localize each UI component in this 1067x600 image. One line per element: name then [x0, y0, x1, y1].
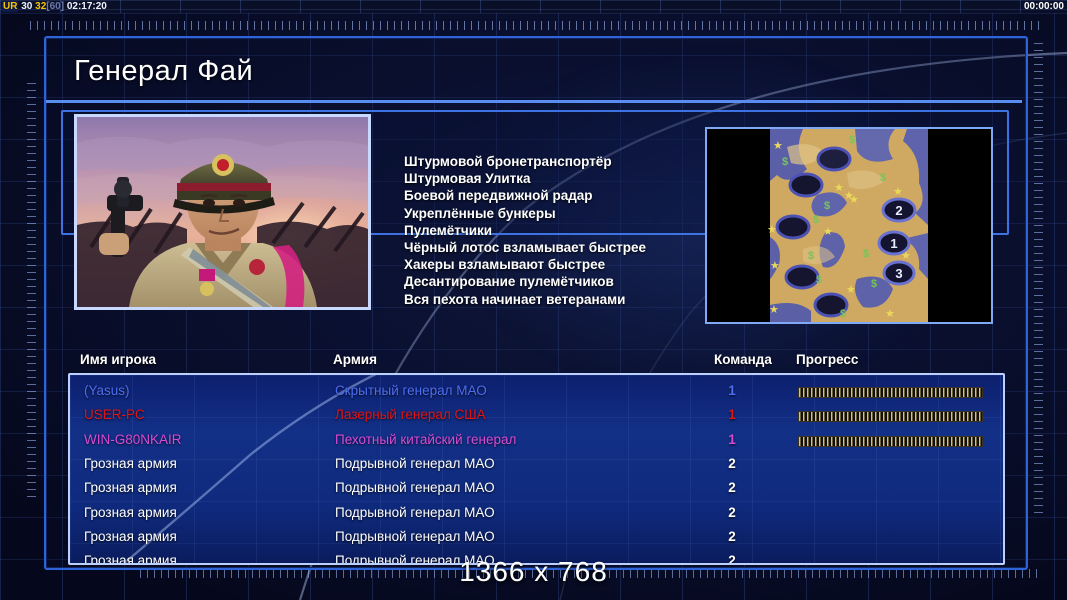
player-army: Пехотный китайский генерал: [335, 432, 516, 447]
svg-text:★: ★: [846, 284, 856, 296]
svg-text:★: ★: [834, 182, 844, 194]
player-team: 1: [724, 432, 740, 447]
svg-text:★: ★: [901, 250, 911, 262]
player-team: 2: [724, 480, 740, 495]
ability-item: Штурмовая Улитка: [404, 170, 694, 187]
ruler-right: [1034, 43, 1043, 513]
ability-item: Штурмовой бронетранспортёр: [404, 153, 694, 170]
ability-item: Вся пехота начинает ветеранами: [404, 291, 694, 308]
progress-bar: [798, 436, 983, 447]
resolution-overlay: 1366 x 768: [0, 556, 1067, 588]
column-header-army: Армия: [333, 352, 377, 367]
column-header-team: Команда: [714, 352, 772, 367]
player-army: Подрывной генерал МАО: [335, 529, 495, 544]
svg-text:★: ★: [885, 308, 895, 320]
player-name: Грозная армия: [84, 529, 177, 544]
os-bar-grid: [0, 0, 1067, 13]
ability-item: Укреплённые бункеры: [404, 205, 694, 222]
page-title: Генерал Фай: [74, 55, 253, 88]
svg-text:$: $: [824, 200, 830, 212]
svg-text:$: $: [782, 156, 788, 168]
progress-bar: [798, 387, 983, 398]
player-army: Лазерный генерал США: [335, 407, 486, 422]
session-timer: 02:17:20: [67, 1, 107, 12]
svg-text:★: ★: [770, 260, 780, 272]
player-army: Подрывной генерал МАО: [335, 505, 495, 520]
table-row[interactable]: Грозная армияПодрывной генерал МАО2: [70, 505, 1005, 529]
svg-text:$: $: [813, 214, 819, 226]
table-row[interactable]: USER-PCЛазерный генерал США1: [70, 407, 1005, 431]
player-name: Грозная армия: [84, 505, 177, 520]
svg-text:★: ★: [773, 140, 783, 152]
ability-item: Боевой передвижной радар: [404, 187, 694, 204]
fps-label: UR: [2, 1, 18, 12]
player-team: 1: [724, 383, 740, 398]
player-team: 1: [724, 407, 740, 422]
fps-overlay: UR 30 32[60] 02:17:20: [2, 0, 107, 13]
player-team: 2: [724, 505, 740, 520]
svg-text:$: $: [849, 134, 855, 146]
svg-text:$: $: [840, 308, 846, 320]
svg-text:$: $: [880, 172, 886, 184]
table-row[interactable]: Грозная армияПодрывной генерал МАО2: [70, 529, 1005, 553]
player-list-rows: (Yasus)Скрытный генерал МАО1USER-PCЛазер…: [70, 375, 1003, 563]
player-team: 2: [724, 529, 740, 544]
player-name: Грозная армия: [84, 456, 177, 471]
player-name: USER-PC: [84, 407, 145, 422]
ability-item: Чёрный лотос взламывает быстрее: [404, 239, 694, 256]
progress-bar-wrap: [798, 436, 983, 447]
player-name: WIN-G80NKAIR: [84, 432, 182, 447]
ruler-top: [30, 21, 1040, 30]
minimap-start-label: 1: [890, 236, 897, 251]
player-name: Грозная армия: [84, 480, 177, 495]
os-top-bar: UR 30 32[60] 02:17:20 00:00:00: [0, 0, 1067, 13]
svg-text:★: ★: [823, 226, 833, 238]
player-team: 2: [724, 456, 740, 471]
progress-bar-wrap: [798, 411, 983, 422]
table-row[interactable]: Грозная армияПодрывной генерал МАО2: [70, 480, 1005, 504]
ruler-left: [27, 83, 36, 503]
table-row[interactable]: WIN-G80NKAIRПехотный китайский генерал1: [70, 432, 1005, 456]
fps-value-1: 30: [21, 1, 32, 12]
progress-bar: [798, 411, 983, 422]
svg-text:$: $: [816, 274, 822, 286]
player-list: (Yasus)Скрытный генерал МАО1USER-PCЛазер…: [68, 373, 1005, 565]
fps-value-2: 32: [35, 1, 46, 12]
minimap-start-label: 3: [895, 266, 902, 281]
ability-item: Десантирование пулемётчиков: [404, 273, 694, 290]
progress-bar-wrap: [798, 387, 983, 398]
minimap-start-label: 2: [895, 203, 902, 218]
general-portrait: [74, 114, 371, 310]
recording-timer: 00:00:00: [1024, 0, 1064, 13]
fps-value-3: [60]: [46, 1, 64, 12]
svg-text:★: ★: [893, 186, 903, 198]
table-header: Имя игрока Армия Команда Прогресс: [80, 352, 1005, 372]
table-row[interactable]: Грозная армияПодрывной генерал МАО2: [70, 456, 1005, 480]
player-name: (Yasus): [84, 383, 130, 398]
svg-text:$: $: [808, 250, 814, 262]
column-header-progress: Прогресс: [796, 352, 858, 367]
ability-item: Пулемётчики: [404, 222, 694, 239]
player-army: Подрывной генерал МАО: [335, 480, 495, 495]
svg-text:★: ★: [849, 194, 859, 206]
svg-text:$: $: [863, 248, 869, 260]
game-area: Генерал Фай: [0, 13, 1067, 600]
ability-item: Хакеры взламывают быстрее: [404, 256, 694, 273]
svg-text:$: $: [871, 278, 877, 290]
general-abilities-list: Штурмовой бронетранспортёр Штурмовая Ули…: [404, 153, 694, 308]
game-screen: UR 30 32[60] 02:17:20 00:00:00 Генерал Ф…: [0, 0, 1067, 600]
table-row[interactable]: (Yasus)Скрытный генерал МАО1: [70, 383, 1005, 407]
svg-text:★: ★: [769, 304, 779, 316]
minimap[interactable]: 2 1 3 $$ $$ $$ $$ $$ ★★ ★: [705, 127, 993, 324]
player-army: Подрывной генерал МАО: [335, 456, 495, 471]
player-army: Скрытный генерал МАО: [335, 383, 487, 398]
svg-text:★: ★: [767, 224, 777, 236]
column-header-name: Имя игрока: [80, 352, 156, 367]
